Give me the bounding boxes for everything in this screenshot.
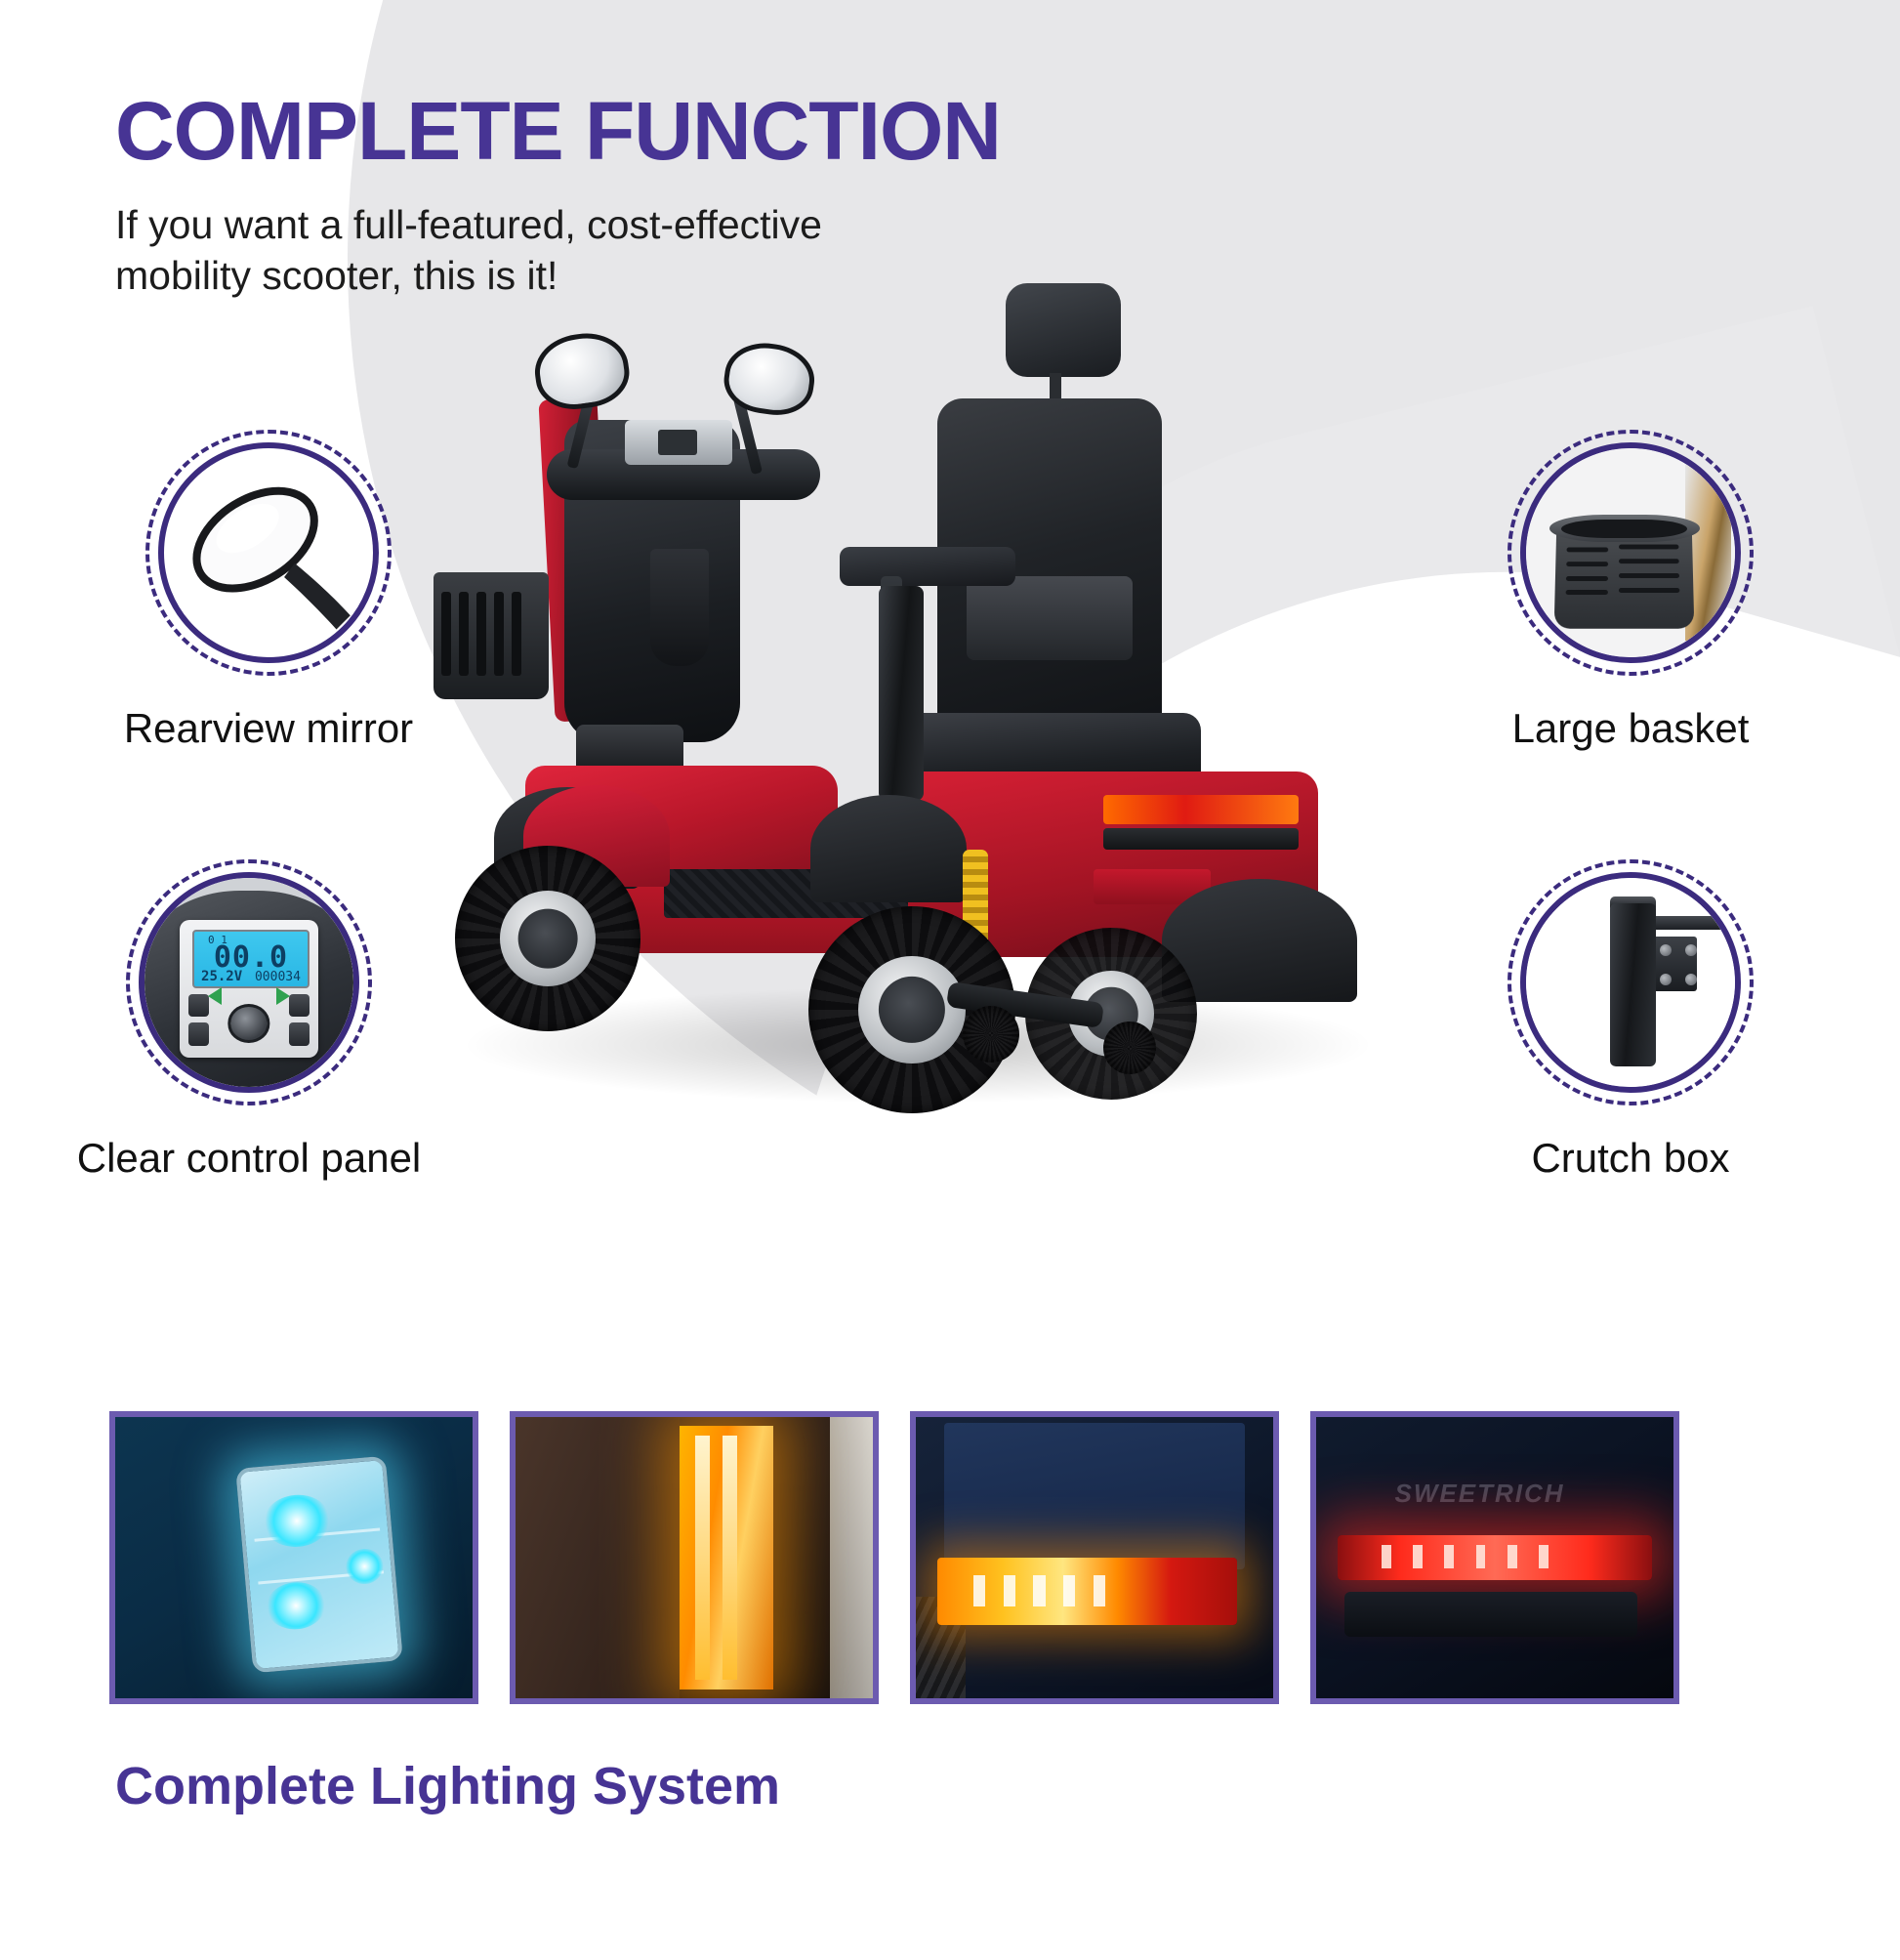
solid-ring-icon [158, 442, 379, 663]
rear-trim [1103, 828, 1299, 850]
armrest-left [840, 547, 1015, 586]
hub-rear-left [858, 956, 966, 1063]
crutch-mount-arm [1651, 916, 1735, 931]
lcd-display: 0 1 00.0 25.2V 000034 [192, 930, 310, 988]
body-panel-dark [516, 1417, 680, 1698]
crutch-image-clip [1526, 878, 1735, 1087]
basket-interior [1561, 520, 1686, 538]
arrow-left-icon [208, 987, 222, 1005]
feature-circle-crutch [1508, 859, 1754, 1105]
mirror-icon [164, 448, 373, 657]
rear-taillight [1103, 795, 1299, 824]
wheel-front-left [455, 846, 640, 1031]
feature-large-basket: Large basket [1421, 430, 1840, 752]
arrow-right-icon [276, 987, 290, 1005]
panel-key-cluster [188, 991, 310, 1049]
feature-circle-mirror [145, 430, 392, 676]
feature-circle-panel: 0 1 00.0 25.2V 000034 [126, 859, 372, 1105]
taillight-photo: SWEETRICH [1316, 1417, 1673, 1698]
headlight-lens-icon [235, 1456, 403, 1673]
basket-icon [1526, 448, 1735, 657]
rear-indicator-lens-icon [937, 1558, 1237, 1625]
rear-body-panel [944, 1423, 1244, 1569]
control-panel-icon: 0 1 00.0 25.2V 000034 [145, 878, 353, 1087]
subtitle-line-1: If you want a full-featured, cost-effect… [115, 199, 994, 250]
rear-bumper [1344, 1592, 1637, 1637]
feature-label-crutch-box: Crutch box [1421, 1135, 1840, 1182]
seat-back-pocket [967, 576, 1133, 660]
taillight-lens-icon [1338, 1535, 1652, 1580]
panel-faceplate: 0 1 00.0 25.2V 000034 [180, 920, 317, 1058]
feature-rearview-mirror: Rearview mirror [59, 430, 478, 752]
brand-embossed-label: SWEETRICH [1395, 1479, 1559, 1513]
lcd-voltage: 25.2V [201, 969, 242, 984]
panel-key-bottom-left[interactable] [188, 1022, 209, 1046]
lighting-section-caption: Complete Lighting System [115, 1756, 780, 1816]
crutch-box-icon [1526, 878, 1735, 1087]
anti-tip-wheel-right [1103, 1022, 1156, 1074]
feature-label-rearview-mirror: Rearview mirror [59, 705, 478, 752]
feature-label-control-panel: Clear control panel [39, 1135, 459, 1182]
solid-ring-icon [1520, 442, 1741, 663]
rear-fender-left [810, 795, 967, 902]
feature-control-panel: 0 1 00.0 25.2V 000034 [39, 859, 459, 1182]
mirror-image-clip [164, 448, 373, 657]
anti-tip-wheel-left [963, 1006, 1019, 1063]
feature-circle-basket [1508, 430, 1754, 676]
turn-signal-lens-icon [680, 1426, 772, 1690]
product-image-mobility-scooter [420, 283, 1474, 1094]
panel-key-top-left[interactable] [188, 994, 209, 1018]
panel-image-clip: 0 1 00.0 25.2V 000034 [145, 878, 353, 1087]
control-panel-screen [658, 430, 697, 455]
solid-ring-icon [1520, 872, 1741, 1093]
speed-knob[interactable] [227, 1004, 269, 1042]
lighting-thumb-rear-indicator[interactable] [910, 1411, 1279, 1704]
lighting-thumb-taillight[interactable]: SWEETRICH [1310, 1411, 1679, 1704]
basket-image-clip [1526, 448, 1735, 657]
tiller-cup-holder [650, 549, 709, 666]
panel-key-top-right[interactable] [289, 994, 310, 1018]
background-wall [830, 1417, 873, 1698]
hub-front-left [500, 891, 596, 986]
crutch-tube [1610, 903, 1656, 1066]
crutch-holder-tube [879, 586, 924, 801]
page-title: COMPLETE FUNCTION [115, 90, 1001, 172]
lighting-thumb-headlight[interactable] [109, 1411, 478, 1704]
feature-label-large-basket: Large basket [1421, 705, 1840, 752]
subtitle-line-2: mobility scooter, this is it! [115, 250, 994, 301]
seat-headrest [1006, 283, 1121, 377]
lcd-odometer: 000034 [255, 970, 301, 984]
side-marker-photo [516, 1417, 873, 1698]
header: COMPLETE FUNCTION If you want a full-fea… [115, 90, 1001, 302]
lighting-thumbnail-strip: SWEETRICH [109, 1411, 1679, 1704]
panel-key-bottom-right[interactable] [289, 1022, 310, 1046]
feature-crutch-box: Crutch box [1421, 859, 1840, 1182]
page-subtitle: If you want a full-featured, cost-effect… [115, 199, 994, 302]
rear-indicator-photo [916, 1417, 1273, 1698]
lighting-thumb-turn-signal[interactable] [510, 1411, 879, 1704]
headlight-photo [115, 1417, 473, 1698]
solid-ring-icon: 0 1 00.0 25.2V 000034 [139, 872, 359, 1093]
